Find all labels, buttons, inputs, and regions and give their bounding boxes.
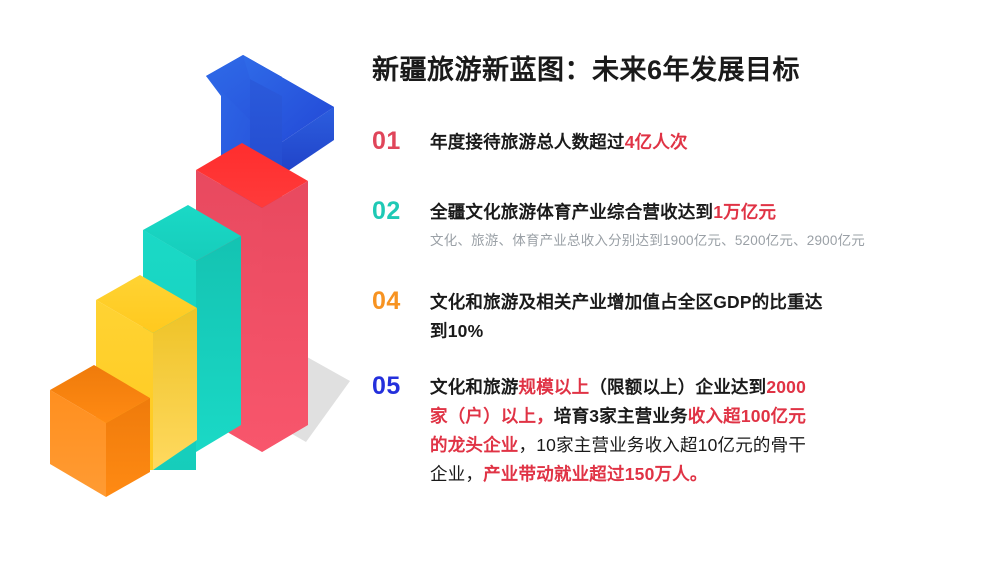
item-body-04: 文化和旅游及相关产业增加值占全区GDP的比重达 到10%	[430, 288, 942, 346]
item-line: 年度接待旅游总人数超过4亿人次	[430, 128, 942, 157]
item-text-highlight: 家（户）以上，	[430, 406, 554, 426]
item-text-segment: 文化和旅游	[430, 377, 519, 397]
item-line: 企业，产业带动就业超过150万人。	[430, 460, 942, 489]
item-line: 文化和旅游规模以上（限额以上）企业达到2000	[430, 373, 942, 402]
item-subtext: 文化、旅游、体育产业总收入分别达到1900亿元、5200亿元、2900亿元	[430, 229, 942, 253]
item-text-segment: 企业，	[430, 464, 483, 484]
item-text-segment: 年度接待旅游总人数超过	[430, 132, 625, 152]
item-body-05: 文化和旅游规模以上（限额以上）企业达到2000 家（户）以上，培育3家主营业务收…	[430, 373, 942, 489]
item-body-01: 年度接待旅游总人数超过4亿人次	[430, 128, 942, 157]
item-text-segment: 培育3家主营业务	[554, 406, 688, 426]
item-number-01: 01	[372, 128, 422, 156]
infographic-slide: 新疆旅游新蓝图：未来6年发展目标 01 年度接待旅游总人数超过4亿人次 02 全…	[0, 0, 1000, 563]
item-line: 家（户）以上，培育3家主营业务收入超100亿元	[430, 402, 942, 431]
item-text-highlight: 规模以上	[519, 377, 590, 397]
item-text-segment: 文化和旅游及相关产业增加值占全区GDP的比重达	[430, 292, 823, 312]
item-line: 到10%	[430, 317, 942, 346]
item-text-highlight: 产业带动就业超过150万人。	[483, 464, 708, 484]
item-text-highlight: 1万亿元	[713, 202, 776, 222]
item-text-highlight: 4亿人次	[625, 132, 688, 152]
item-number-04: 04	[372, 288, 422, 316]
item-line: 的龙头企业，10家主营业务收入超10亿元的骨干	[430, 431, 942, 460]
item-line: 文化和旅游及相关产业增加值占全区GDP的比重达	[430, 288, 942, 317]
growth-chart-graphic	[0, 0, 372, 563]
item-text-segment: （限额以上）企业达到	[589, 377, 766, 397]
item-text-highlight: 收入超100亿元	[688, 406, 806, 426]
page-title: 新疆旅游新蓝图：未来6年发展目标	[372, 48, 800, 87]
item-number-02: 02	[372, 198, 422, 226]
item-number-05: 05	[372, 373, 422, 401]
text-panel: 新疆旅游新蓝图：未来6年发展目标 01 年度接待旅游总人数超过4亿人次 02 全…	[372, 0, 1000, 563]
item-line: 全疆文化旅游体育产业综合营收达到1万亿元	[430, 198, 942, 227]
item-text-highlight: 2000	[766, 377, 806, 397]
item-text-segment: 到10%	[430, 321, 483, 341]
item-body-02: 全疆文化旅游体育产业综合营收达到1万亿元 文化、旅游、体育产业总收入分别达到19…	[430, 198, 942, 253]
item-text-highlight: 的龙头企业	[430, 435, 519, 455]
item-text-segment: ，10家主营业务收入超10亿元的骨干	[519, 435, 807, 455]
item-text-segment: 全疆文化旅游体育产业综合营收达到	[430, 202, 713, 222]
